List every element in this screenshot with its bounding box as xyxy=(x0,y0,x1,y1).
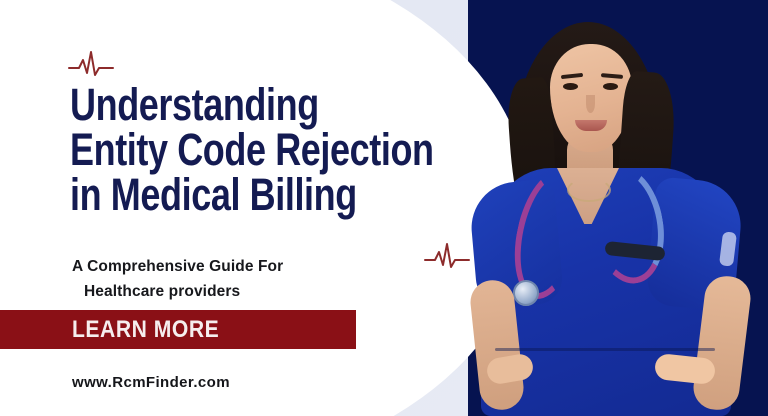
page-subtitle: A Comprehensive Guide For Healthcare pro… xyxy=(72,254,283,304)
heartbeat-pulse-icon xyxy=(424,240,470,275)
headline-line-1: Understanding xyxy=(70,82,434,127)
learn-more-label: LEARN MORE xyxy=(72,316,219,344)
headline-line-2: Entity Code Rejection xyxy=(70,127,434,172)
promo-banner: Understanding Entity Code Rejection in M… xyxy=(0,0,768,416)
subtitle-line-2: Healthcare providers xyxy=(72,279,283,304)
headline-line-3: in Medical Billing xyxy=(70,172,434,217)
subtitle-line-1: A Comprehensive Guide For xyxy=(72,254,283,279)
page-title: Understanding Entity Code Rejection in M… xyxy=(70,82,434,217)
banner-content: Understanding Entity Code Rejection in M… xyxy=(0,0,768,416)
heartbeat-pulse-icon xyxy=(68,48,114,83)
website-url[interactable]: www.RcmFinder.com xyxy=(72,374,230,391)
learn-more-button[interactable]: LEARN MORE xyxy=(0,310,356,349)
